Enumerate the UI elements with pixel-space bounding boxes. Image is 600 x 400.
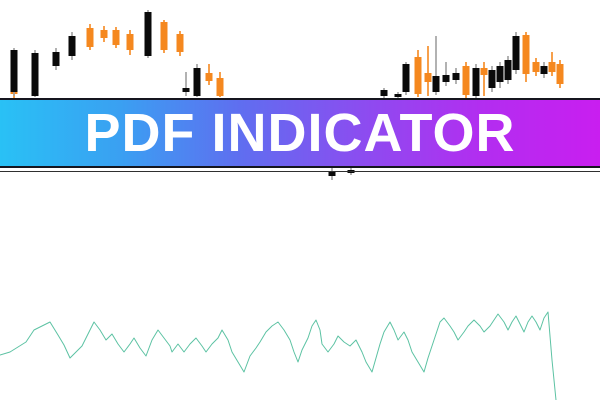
screenshot-stage: PDF INDICATOR [0, 0, 600, 400]
candle-body [549, 62, 556, 72]
candle-body [161, 22, 168, 50]
indicator-svg [0, 180, 600, 400]
candle-body [127, 34, 134, 50]
candle-body [113, 30, 120, 45]
candle-body [505, 60, 512, 80]
candle-body [473, 68, 480, 96]
candle-body [32, 53, 39, 96]
candle-body [415, 57, 422, 94]
candle-body [523, 35, 530, 74]
price-axis-separator [0, 171, 600, 172]
candle-body [513, 36, 520, 70]
candle-body [145, 12, 152, 56]
candle-body [101, 30, 108, 38]
candle-body [497, 66, 504, 82]
candle-body [381, 90, 388, 96]
candle-body [69, 36, 76, 56]
banner-title: PDF INDICATOR [85, 106, 516, 160]
candle-body [453, 73, 460, 80]
indicator-oscillator-chart [0, 180, 600, 400]
candle-body [217, 78, 224, 96]
candle-body [395, 94, 402, 97]
candle-body [541, 66, 548, 74]
candle-body [53, 52, 60, 66]
indicator-line-series [0, 312, 556, 400]
candle-body [533, 62, 540, 72]
candle-body [403, 64, 410, 92]
candle-body [11, 50, 18, 92]
candle-body [183, 88, 190, 92]
candle-body [329, 172, 336, 176]
candle-body [87, 28, 94, 47]
candle-body [463, 66, 470, 95]
banner: PDF INDICATOR [0, 98, 600, 168]
candle-body [433, 76, 440, 92]
candle-body [194, 68, 201, 96]
candle-body [443, 75, 450, 82]
candle-body [557, 64, 564, 84]
candle-body [177, 34, 184, 52]
candle-body [206, 73, 213, 81]
candle-body [489, 70, 496, 88]
candle-body [481, 68, 488, 75]
candle-body [425, 73, 432, 82]
